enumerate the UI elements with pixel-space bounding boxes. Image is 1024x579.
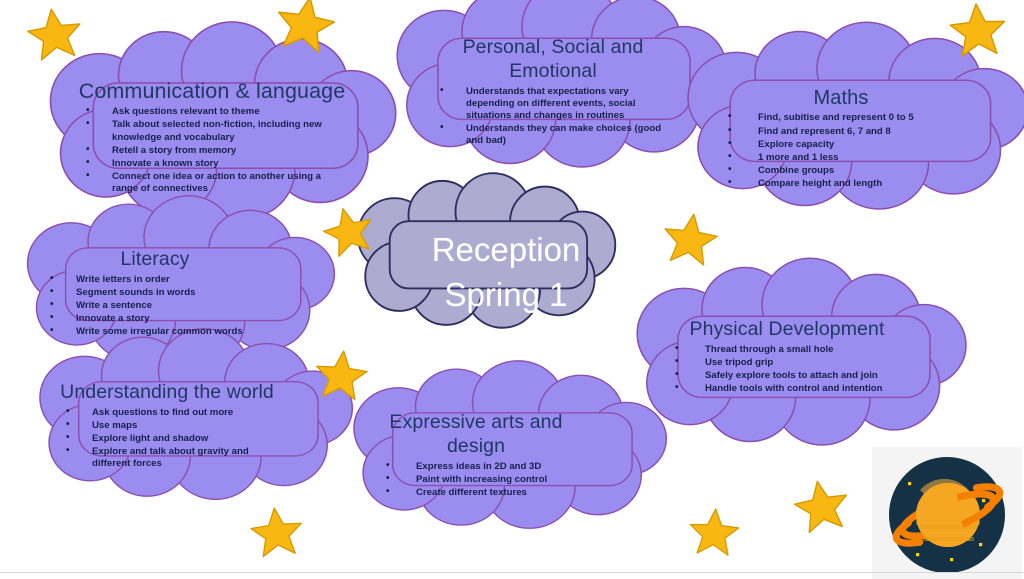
list-item: Write letters in order xyxy=(76,274,268,286)
bubble-list: Ask questions relevant to theme Talk abo… xyxy=(78,106,346,195)
list-item: Thread through a small hole xyxy=(705,344,909,356)
bubble-expressive-arts-and-design: Expressive arts and design Express ideas… xyxy=(376,411,576,500)
list-item: Connect one idea or action to another us… xyxy=(112,171,346,195)
list-item: Create different textures xyxy=(416,487,576,499)
list-item: Paint with increasing control xyxy=(416,474,576,486)
list-item: Ask questions to find out more xyxy=(92,407,276,419)
list-item: Retell a story from memory xyxy=(112,145,346,157)
list-item: Use maps xyxy=(92,420,276,432)
list-item: Handle tools with control and intention xyxy=(705,383,909,395)
bubble-title: Expressive arts and design xyxy=(376,411,576,459)
bottom-divider xyxy=(0,572,1024,573)
list-item: Use tripod grip xyxy=(705,357,909,369)
bubble-title: Literacy xyxy=(42,248,268,272)
bubble-title: Maths xyxy=(718,86,964,110)
list-item: Explore capacity xyxy=(758,139,964,151)
list-item: Write a sentence xyxy=(76,300,268,312)
list-item: Explore and talk about gravity and diffe… xyxy=(92,446,276,470)
bubble-list: Write letters in order Segment sounds in… xyxy=(42,274,268,339)
bubble-list: Find, subitise and represent 0 to 5 Find… xyxy=(718,112,964,190)
list-item: Talk about selected non-fiction, includi… xyxy=(112,119,346,143)
list-item: Segment sounds in words xyxy=(76,287,268,299)
list-item: Combine groups xyxy=(758,165,964,177)
list-item: Understands they can make choices (good … xyxy=(466,123,674,147)
bubble-literacy: Literacy Write letters in order Segment … xyxy=(42,248,268,340)
bubble-understanding-the-world: Understanding the world Ask questions to… xyxy=(58,381,276,472)
bubble-list: Understands that expectations vary depen… xyxy=(432,86,674,148)
list-item: Ask questions relevant to theme xyxy=(112,106,346,118)
bubble-list: Thread through a small hole Use tripod g… xyxy=(665,344,909,396)
list-item: 1 more and 1 less xyxy=(758,152,964,164)
bubble-title: Communication & language xyxy=(78,78,346,104)
list-item: Write some irregular common words xyxy=(76,326,268,338)
bubble-communication-language: Communication & language Ask questions r… xyxy=(78,78,346,196)
bubble-list: Ask questions to find out more Use maps … xyxy=(58,407,276,471)
list-item: Innovate a story xyxy=(76,313,268,325)
list-item: Innovate a known story xyxy=(112,158,346,170)
list-item: Find and represent 6, 7 and 8 xyxy=(758,126,964,138)
list-item: Understands that expectations vary depen… xyxy=(466,86,674,123)
text-layer: Communication & language Ask questions r… xyxy=(0,0,1024,579)
bubble-personal-social-emotional: Personal, Social and Emotional Understan… xyxy=(432,36,674,148)
bubble-title: Understanding the world xyxy=(58,381,276,405)
list-item: Express ideas in 2D and 3D xyxy=(416,461,576,473)
bubble-physical-development: Physical Development Thread through a sm… xyxy=(665,318,909,396)
bubble-title: Personal, Social and Emotional xyxy=(432,36,674,84)
list-item: Safely explore tools to attach and join xyxy=(705,370,909,382)
centre-title-line-2: Spring 1 xyxy=(368,273,644,318)
list-item: Compare height and length xyxy=(758,178,964,190)
list-item: Find, subitise and represent 0 to 5 xyxy=(758,112,964,124)
bubble-list: Express ideas in 2D and 3D Paint with in… xyxy=(376,461,576,500)
bubble-title: Physical Development xyxy=(665,318,909,342)
centre-cloud-title: Reception Spring 1 xyxy=(368,228,644,318)
list-item: Explore light and shadow xyxy=(92,433,276,445)
curriculum-map-poster: Communication & language Ask questions r… xyxy=(0,0,1024,579)
centre-title-line-1: Reception xyxy=(368,228,644,273)
bubble-maths: Maths Find, subitise and represent 0 to … xyxy=(718,86,964,191)
